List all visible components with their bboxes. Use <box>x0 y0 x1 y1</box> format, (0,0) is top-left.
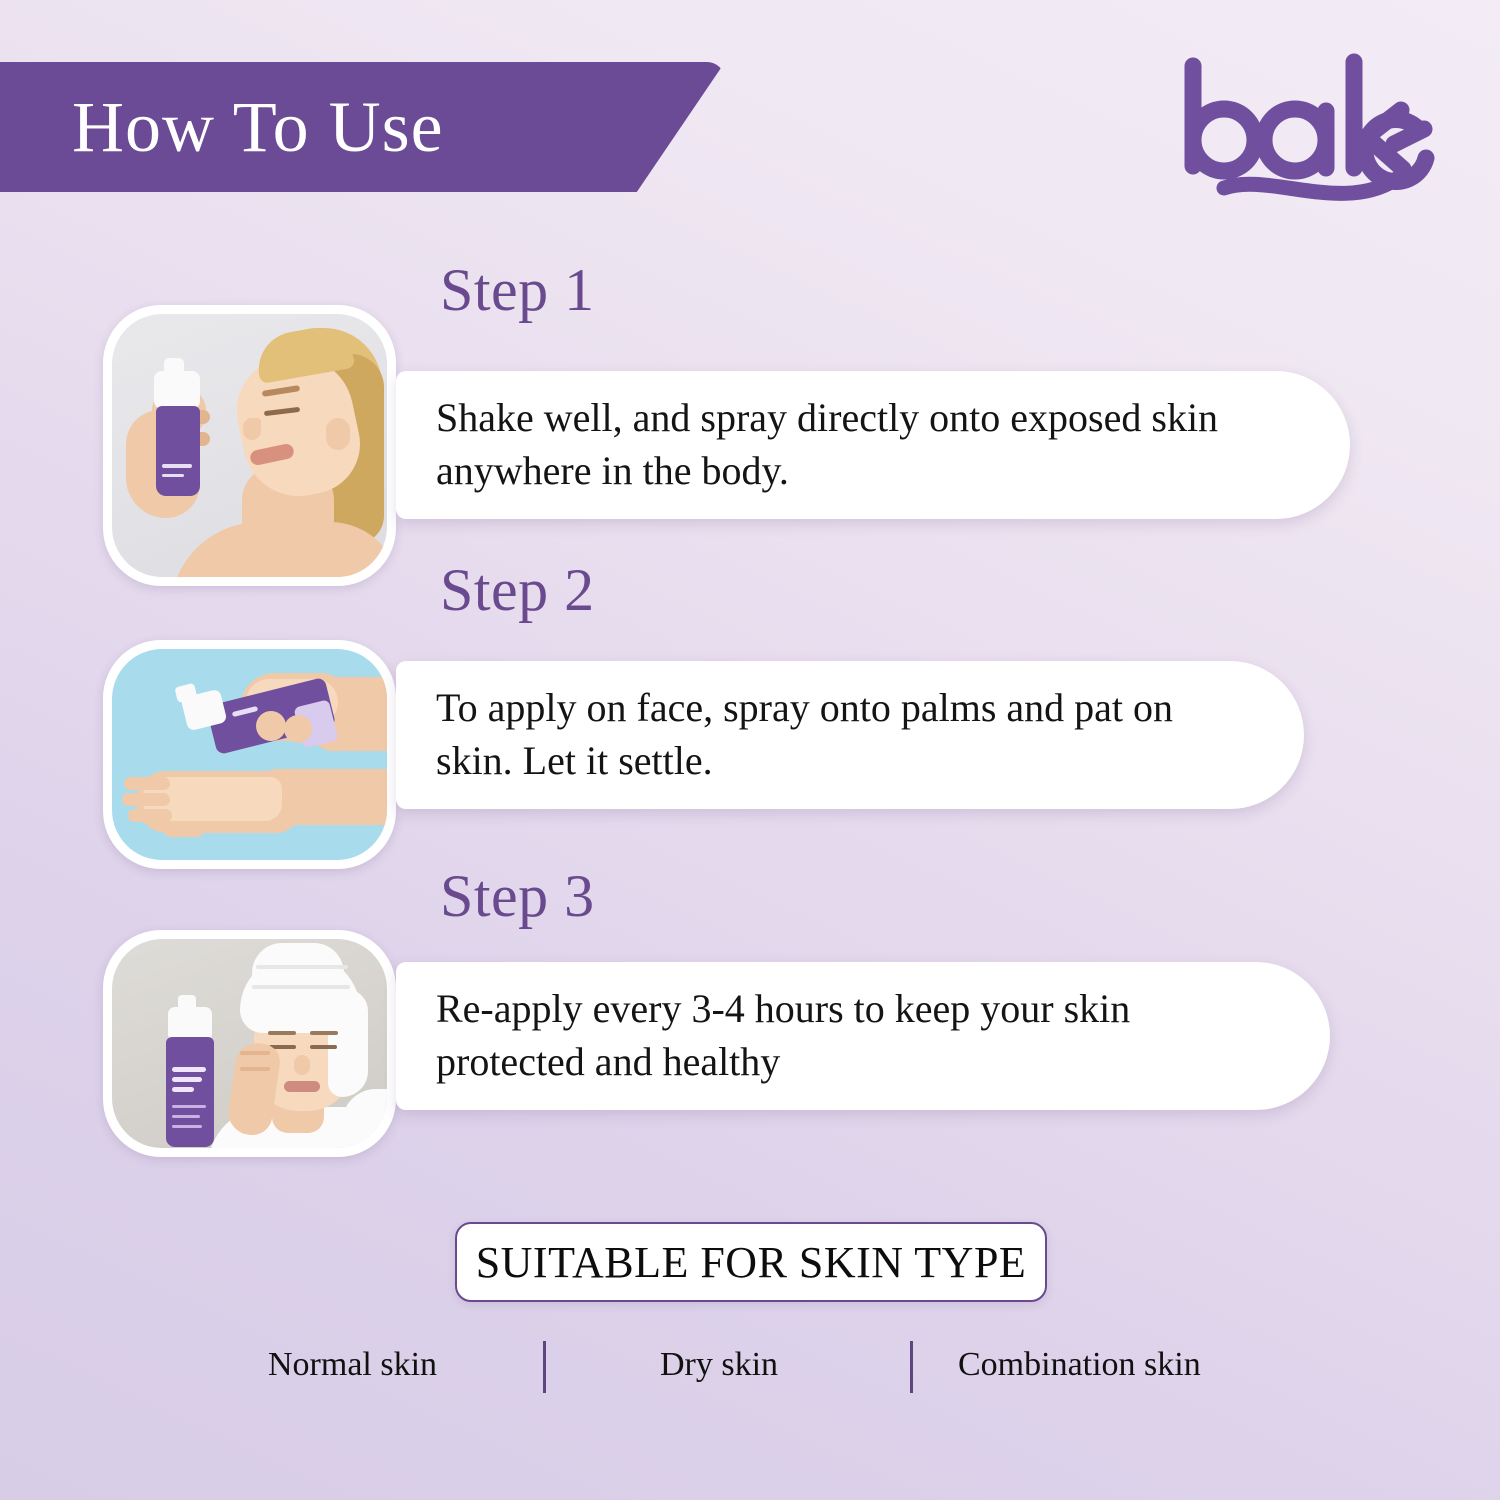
step-label-3: Step 3 <box>440 866 595 926</box>
step-text-1: Shake well, and spray directly onto expo… <box>396 392 1350 498</box>
step-text-3: Re-apply every 3-4 hours to keep your sk… <box>396 983 1330 1089</box>
step-text-card-2: To apply on face, spray onto palms and p… <box>396 661 1304 809</box>
page-title: How To Use <box>72 91 444 163</box>
step-label-1: Step 1 <box>440 260 595 320</box>
step-image-3 <box>103 930 396 1157</box>
skin-type-divider <box>543 1341 546 1393</box>
skin-type-divider <box>910 1341 913 1393</box>
step-text-card-3: Re-apply every 3-4 hours to keep your sk… <box>396 962 1330 1110</box>
header-banner: How To Use <box>0 62 725 192</box>
skin-type-dry: Dry skin <box>660 1335 778 1395</box>
suitable-for-skin-type-badge: SUITABLE FOR SKIN TYPE <box>455 1222 1047 1302</box>
skin-type-list: Normal skin Dry skin Combination skin <box>240 1335 1270 1405</box>
infographic-page: How To Use Step 1 <box>0 0 1500 1500</box>
skin-type-combination: Combination skin <box>958 1335 1201 1395</box>
step-text-2: To apply on face, spray onto palms and p… <box>396 682 1304 788</box>
step-text-card-1: Shake well, and spray directly onto expo… <box>396 371 1350 519</box>
skin-type-normal: Normal skin <box>268 1335 437 1395</box>
step-image-1 <box>103 305 396 586</box>
brand-logo <box>1158 48 1438 223</box>
suitable-heading: SUITABLE FOR SKIN TYPE <box>476 1237 1027 1288</box>
step-image-2 <box>103 640 396 869</box>
step-label-2: Step 2 <box>440 560 595 620</box>
